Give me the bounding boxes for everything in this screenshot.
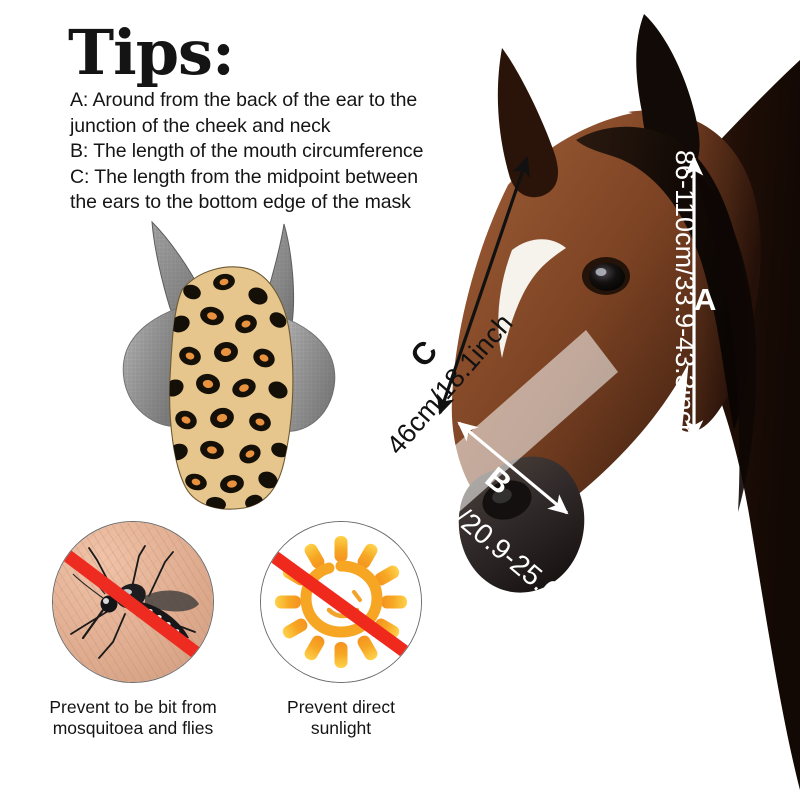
benefit-caption: Prevent direct sunlight	[256, 697, 426, 739]
benefit-caption-line2: sunlight	[256, 718, 426, 739]
tips-list: A: Around from the back of the ear to th…	[70, 88, 440, 216]
tip-line: C: The length from the midpoint between	[70, 165, 440, 191]
benefit-caption-line1: Prevent to be bit from	[48, 697, 218, 718]
infographic-canvas: 86-110cm/33.9-43.3inch A 53-65cm/20.9-25…	[0, 0, 800, 800]
sun-no-icon	[260, 521, 422, 683]
tip-line: junction of the cheek and neck	[70, 114, 440, 140]
benefit-mosquito: Prevent to be bit from mosquitoea and fl…	[48, 521, 218, 739]
page-title: Tips:	[68, 22, 234, 84]
benefit-caption: Prevent to be bit from mosquitoea and fl…	[48, 697, 218, 739]
horse-ear-far	[498, 48, 558, 197]
tip-line: A: Around from the back of the ear to th…	[70, 88, 440, 114]
tip-line: B: The length of the mouth circumference	[70, 139, 440, 165]
measurement-letter-a: A	[694, 282, 716, 318]
benefit-sunlight: Prevent direct sunlight	[256, 521, 426, 739]
fly-mask-product-image	[120, 212, 340, 522]
benefit-caption-line2: mosquitoea and flies	[48, 718, 218, 739]
mosquito-no-icon	[52, 521, 214, 683]
benefit-caption-line1: Prevent direct	[256, 697, 426, 718]
